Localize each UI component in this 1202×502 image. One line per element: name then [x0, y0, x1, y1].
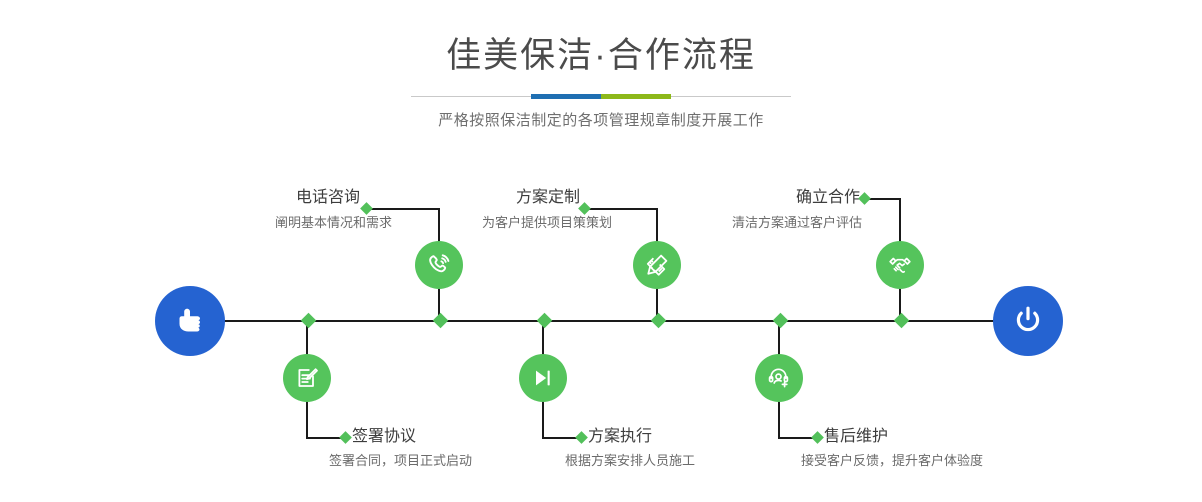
play-execute-icon[interactable]	[519, 354, 567, 402]
connector-horizontal	[367, 208, 440, 210]
step-title: 方案执行	[588, 427, 652, 447]
start-endpoint[interactable]	[155, 286, 225, 356]
connector-marker	[811, 431, 824, 444]
divider-segment-blue	[531, 94, 601, 99]
step-description: 清洁方案通过客户评估	[572, 214, 862, 232]
step-title: 签署协议	[352, 427, 416, 447]
connector-marker	[578, 202, 591, 215]
page-subtitle: 严格按照保洁制定的各项管理规章制度开展工作	[0, 111, 1202, 131]
page-title: 佳美保洁·合作流程	[0, 34, 1202, 78]
axis-node-marker	[537, 313, 553, 329]
step-description: 根据方案安排人员施工	[565, 452, 695, 470]
connector-marker	[858, 192, 871, 205]
axis-node-marker	[433, 313, 449, 329]
step-description: 签署合同，项目正式启动	[329, 452, 472, 470]
end-endpoint[interactable]	[993, 286, 1063, 356]
step-description: 为客户提供项目策策划	[312, 214, 612, 232]
axis-node-marker	[301, 313, 317, 329]
step-title: 确立合作	[632, 188, 860, 208]
step-title: 售后维护	[824, 427, 888, 447]
step-title: 方案定制	[352, 188, 580, 208]
axis-node-marker	[894, 313, 910, 329]
divider-segment-green	[601, 94, 671, 99]
power-icon	[1009, 302, 1047, 340]
pointing-hand-icon	[172, 303, 208, 339]
phone-call-icon[interactable]	[415, 241, 463, 289]
axis-node-marker	[651, 313, 667, 329]
process-flow-infographic: 佳美保洁·合作流程 严格按照保洁制定的各项管理规章制度开展工作	[0, 0, 1202, 502]
customer-support-icon[interactable]	[755, 354, 803, 402]
pencil-ruler-icon[interactable]	[633, 241, 681, 289]
axis-node-marker	[773, 313, 789, 329]
title-divider	[411, 92, 791, 102]
connector-horizontal	[585, 208, 658, 210]
header: 佳美保洁·合作流程 严格按照保洁制定的各项管理规章制度开展工作	[0, 34, 1202, 131]
step-title: 电话咨询	[132, 188, 360, 208]
document-edit-icon[interactable]	[283, 354, 331, 402]
handshake-icon[interactable]	[876, 241, 924, 289]
connector-marker	[339, 431, 352, 444]
connector-marker	[575, 431, 588, 444]
step-description: 接受客户反馈，提升客户体验度	[801, 452, 983, 470]
